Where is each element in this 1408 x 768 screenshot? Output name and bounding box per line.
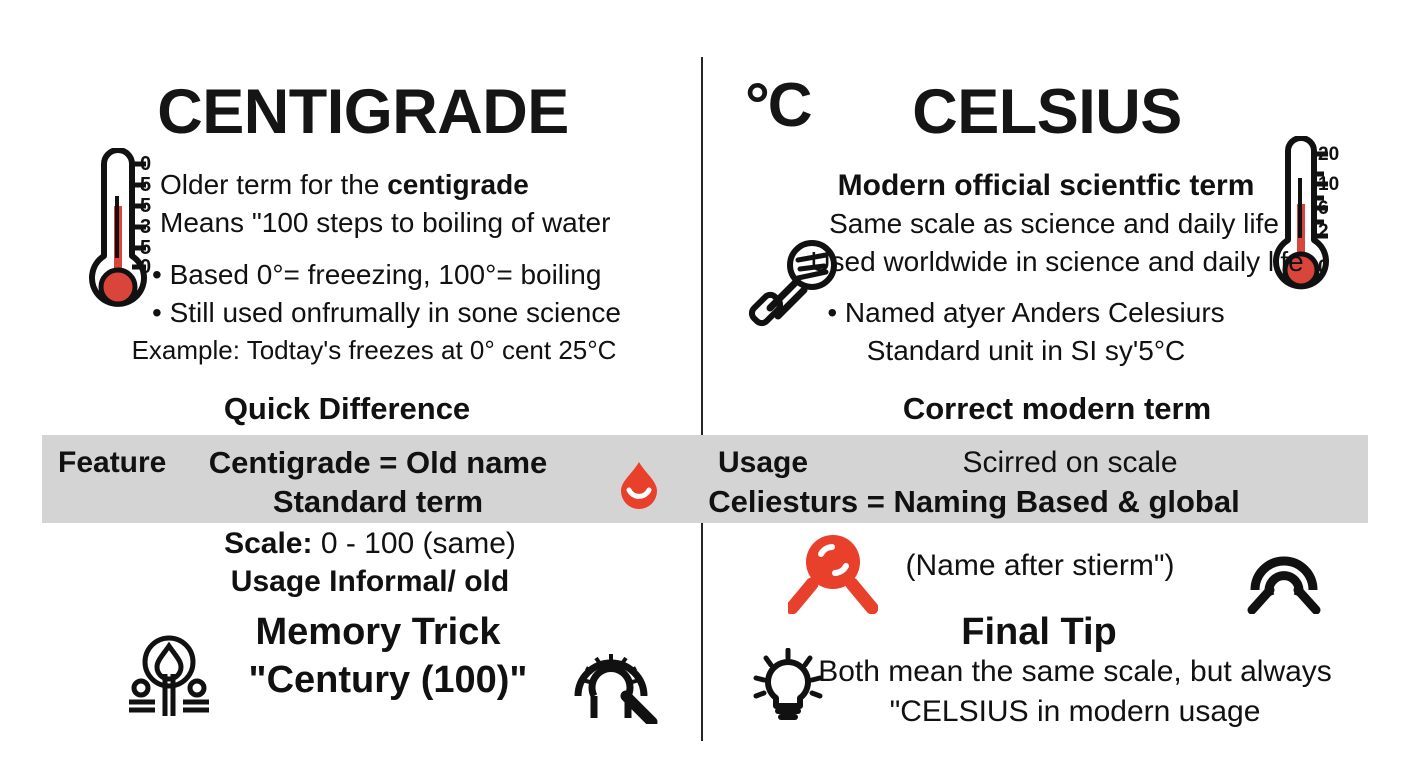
left-usage-line: Usage Informal/ old bbox=[231, 566, 509, 598]
left-lead-line-1: Older term for the centigrade bbox=[160, 170, 529, 200]
left-section-heading: Quick Difference bbox=[224, 392, 470, 425]
left-scale-label: Scale: bbox=[224, 527, 312, 560]
final-tip-heading: Final Tip bbox=[961, 612, 1117, 653]
thermo-tick-5: 0 bbox=[140, 257, 151, 279]
lightbulb-icon bbox=[748, 648, 828, 726]
left-bullet-1: • Based 0°= freeezing, 100°= boiling bbox=[152, 260, 601, 290]
thermo-tick-3: 3 bbox=[140, 217, 151, 239]
gauge-magnifier-icon bbox=[568, 638, 658, 724]
right-bullet-2: Standard unit in SI sy'5°C bbox=[867, 336, 1186, 366]
water-drop-circle-icon bbox=[128, 634, 210, 718]
left-lead-line-2: Means "100 steps to boiling of water bbox=[160, 208, 610, 238]
memory-trick-heading: Memory Trick bbox=[256, 612, 501, 653]
right-lead-line-2: Used worldwide in science and daily life bbox=[810, 247, 1303, 277]
left-scale-value: 0 - 100 (same) bbox=[312, 527, 515, 560]
band-left-line-1: Centigrade = Old name bbox=[209, 446, 548, 479]
thermo-tick-1: 5 bbox=[140, 175, 151, 197]
celsius-tick-2: 2 bbox=[1318, 222, 1329, 243]
band-usage-value: Scirred on scale bbox=[962, 447, 1177, 479]
page-title-centigrade: CENTIGRADE bbox=[157, 78, 569, 146]
memory-trick-quote: "Century (100)" bbox=[249, 660, 528, 701]
celsius-tick-20: 20 bbox=[1318, 145, 1339, 166]
left-scale-line: Scale: 0 - 100 (same) bbox=[224, 528, 516, 560]
red-magnifier-icon bbox=[788, 532, 878, 614]
right-lead-bold: Modern official scientfic term bbox=[838, 170, 1255, 202]
right-bullet-1: • Named atyer Anders Celesiurs bbox=[827, 298, 1224, 328]
right-lead-line-1: Same scale as science and daily life bbox=[829, 209, 1279, 239]
spoon-magnifier-icon bbox=[748, 238, 844, 330]
degree-celsius-glyph: °C bbox=[745, 70, 811, 141]
page-title-celsius: CELSIUS bbox=[912, 78, 1182, 146]
left-lead-bold: centigrade bbox=[387, 169, 529, 200]
right-note: (Name after stierm") bbox=[905, 550, 1174, 582]
flame-drop-icon bbox=[616, 460, 662, 512]
left-bullet-2: • Still used onfrumally in sone science bbox=[152, 298, 621, 328]
celsius-tick-0: 0 bbox=[1318, 258, 1329, 279]
celsius-tick-6: 6 bbox=[1318, 199, 1329, 220]
infographic-canvas: CENTIGRADE 0 5 5 3 5 0 Older term for th… bbox=[0, 0, 1408, 768]
right-section-heading: Correct modern term bbox=[903, 392, 1211, 425]
band-feature-label: Feature bbox=[58, 447, 166, 479]
celsius-tick-10: 10 bbox=[1318, 175, 1339, 196]
band-usage-label: Usage bbox=[718, 447, 808, 479]
left-example: Example: Todtay's freezes at 0° cent 25°… bbox=[132, 336, 617, 364]
left-lead-prefix: Older term for the bbox=[160, 169, 387, 200]
band-left-line-2: Standard term bbox=[273, 485, 483, 518]
arch-magnifier-icon bbox=[1246, 538, 1322, 614]
thermo-tick-2: 5 bbox=[140, 196, 151, 218]
column-divider bbox=[701, 57, 703, 741]
band-right-line-2: Celiesturs = Naming Based & global bbox=[708, 485, 1239, 518]
thermo-tick-0: 0 bbox=[140, 154, 151, 176]
final-tip-line-2: "CELSIUS in modern usage bbox=[890, 696, 1261, 728]
final-tip-line-1: Both mean the same scale, but always bbox=[818, 656, 1332, 688]
